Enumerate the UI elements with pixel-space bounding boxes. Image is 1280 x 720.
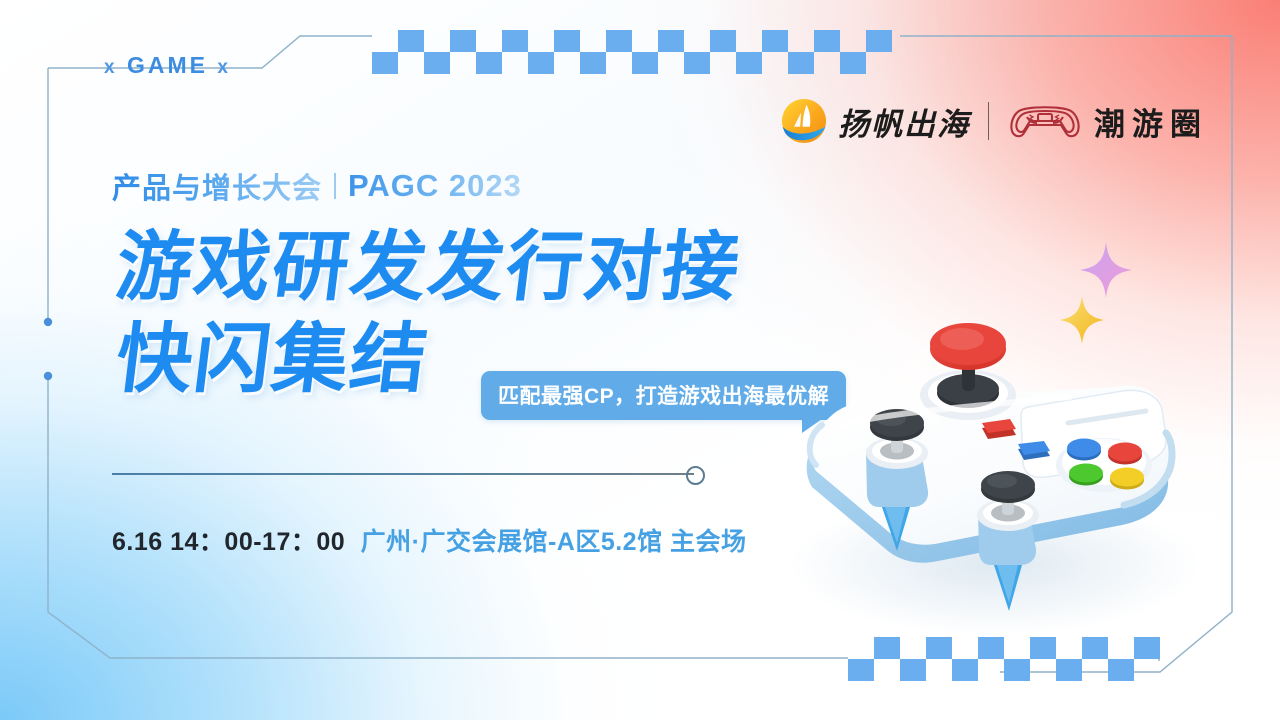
gamepad-outline-icon	[1007, 98, 1083, 144]
logo-chaoyouquan-text: 潮游圈	[1094, 99, 1208, 144]
game-tag-label: GAME	[127, 52, 208, 78]
logo-yangfanchuhai: 扬帆出海	[781, 98, 970, 144]
eyebrow-cn: 产品与增长大会	[112, 165, 322, 207]
logo-divider	[988, 102, 989, 140]
logo-yangfanchuhai-text: 扬帆出海	[838, 99, 970, 144]
eyebrow-en: PAGC 2023	[348, 168, 522, 204]
divider-rule	[112, 473, 694, 475]
event-eyebrow: 产品与增长大会 PAGC 2023	[112, 165, 522, 207]
game-tag: x GAME x	[104, 52, 231, 79]
sun-sail-wave-icon	[781, 98, 827, 144]
event-datetime: 6.16 14：00-17：00	[112, 528, 345, 556]
event-venue: 广州·广交会展馆-A区5.2馆 主会场	[361, 528, 747, 556]
logo-chaoyouquan: 潮游圈	[1007, 98, 1208, 144]
eyebrow-divider	[334, 173, 336, 199]
sparkle-pink-icon	[1078, 240, 1134, 300]
gamepad-illustration	[770, 315, 1240, 655]
checkerboard-top	[372, 30, 892, 74]
game-tag-x-right: x	[217, 57, 231, 78]
headline-line-1: 游戏研发发行对接	[112, 228, 746, 306]
logo-row: 扬帆出海 潮游圈	[781, 98, 1208, 144]
promo-banner: x GAME x	[0, 0, 1280, 720]
game-tag-x-left: x	[104, 57, 118, 78]
divider-end-dot-icon	[686, 466, 705, 485]
event-info: 6.16 14：00-17：00 广州·广交会展馆-A区5.2馆 主会场	[112, 522, 747, 558]
